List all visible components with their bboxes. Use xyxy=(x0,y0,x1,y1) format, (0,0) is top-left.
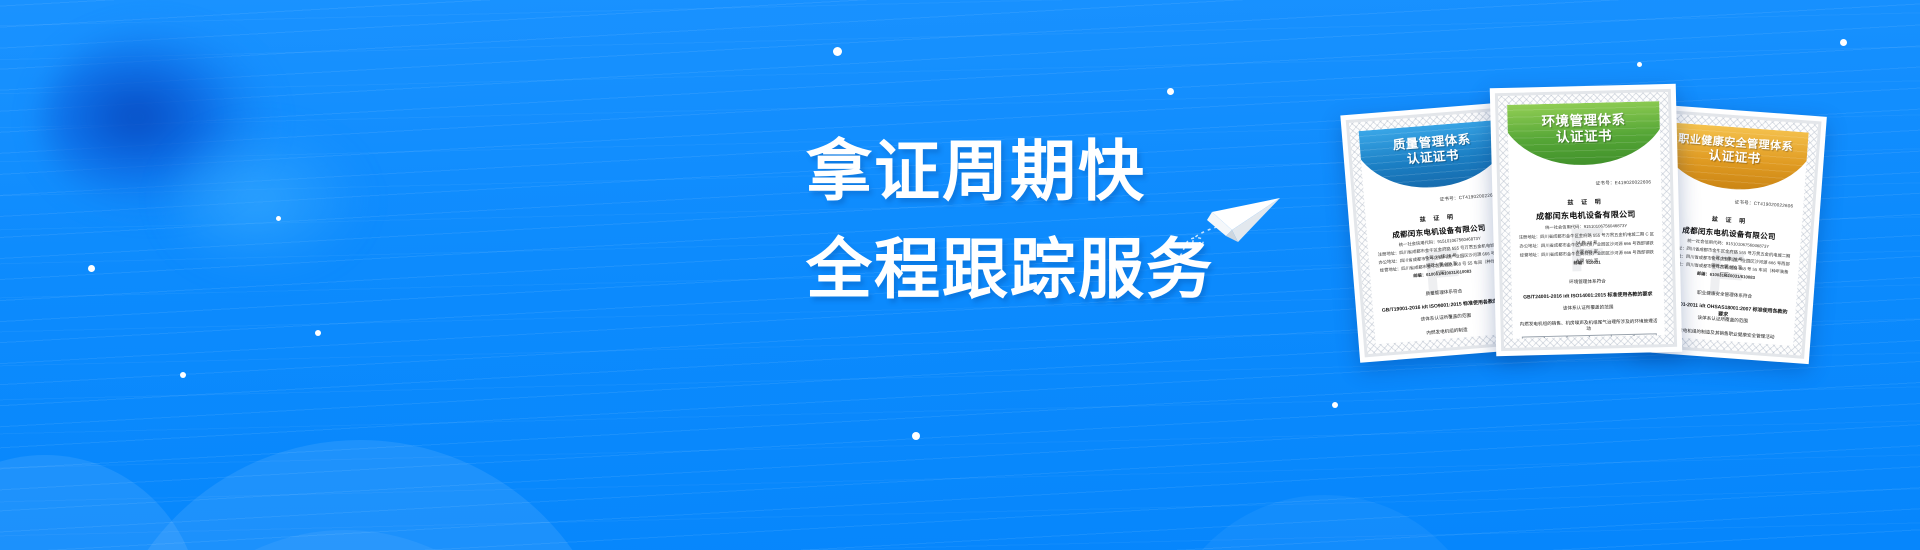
sparkle-dot xyxy=(315,330,321,336)
table-cell: 期间批 xyxy=(1589,334,1612,338)
sparkle-dot xyxy=(276,216,281,221)
promo-banner: 拿证周期快 全程跟踪服务 质量管理体系 认证证书 证书号：CT419020 xyxy=(0,0,1920,550)
sparkle-dot xyxy=(1167,88,1174,95)
certificate-scope-text: 内燃发电机组的制造 xyxy=(1381,323,1513,340)
sparkle-dot xyxy=(88,265,95,272)
certificate-audit-table: 第一次监审 期间批 第二次监审 期间批 第三次监审 期间批 xyxy=(1522,333,1656,338)
decorative-circle xyxy=(1160,495,1490,550)
sparkle-dot xyxy=(833,47,842,56)
certificate-scope-text: 内燃发电机组的销售、机房噪声及机组尾气治理所涉及的环境管理活动 xyxy=(1518,318,1658,333)
table-cell: 第一次监审 xyxy=(1522,336,1545,339)
certificate-standard: GB/T24001-2016 idt ISO14001:2015 标准使用各款的… xyxy=(1518,290,1658,300)
certificate-title: 环境管理体系 认证证书 xyxy=(1507,111,1660,148)
certificate-attest-label: 兹 证 明 xyxy=(1509,195,1661,208)
table-cell: 期间批 xyxy=(1544,335,1567,338)
certificate-scope-title: 环境管理体系符合 xyxy=(1517,277,1657,286)
sparkle-dot xyxy=(912,432,920,440)
table-cell: 第二次监审 xyxy=(1427,343,1450,345)
table-cell: 第三次监审 xyxy=(1469,339,1492,344)
certificate-group: 质量管理体系 认证证书 证书号：CT419020022606 F 兹 证 明 成… xyxy=(1350,70,1920,470)
certificate-page: 环境管理体系 认证证书 证书号：E419020022606 F 兹 证 明 成都… xyxy=(1507,101,1665,339)
paper-plane-icon xyxy=(1176,186,1286,262)
certificate-cover-label: 该体系认证所覆盖的范围 xyxy=(1518,303,1658,312)
cyan-glow-blob xyxy=(170,130,360,270)
certificate-number: 证书号：CT419020022606 xyxy=(1439,192,1498,203)
certificate-number: 证书号：CT419020022606 xyxy=(1734,199,1793,209)
sparkle-dot xyxy=(180,372,186,378)
table-cell: 第三次监审 xyxy=(1611,334,1634,339)
table-cell: 第二次监审 xyxy=(1699,343,1722,346)
sparkle-dot xyxy=(1332,402,1338,408)
table-cell: 期间批 xyxy=(1633,333,1656,339)
certificate-environment[interactable]: 环境管理体系 认证证书 证书号：E419020022606 F 兹 证 明 成都… xyxy=(1490,84,1682,356)
table-cell: 期间批 xyxy=(1448,341,1471,345)
table-cell: 期间批 xyxy=(1720,345,1743,346)
sparkle-dot xyxy=(1840,39,1847,46)
certificate-border: 环境管理体系 认证证书 证书号：E419020022606 F 兹 证 明 成都… xyxy=(1495,89,1677,351)
sparkle-dot xyxy=(1637,62,1642,67)
certificate-audit-table: 第一次监审 期间批 第二次监审 期间批 第三次监审 期间批 xyxy=(1385,338,1512,345)
table-cell: 第二次监审 xyxy=(1566,335,1589,339)
certificate-number: 证书号：E419020022606 xyxy=(1596,179,1652,186)
certificate-company-name: 成都闰东电机设备有限公司 xyxy=(1510,208,1662,223)
